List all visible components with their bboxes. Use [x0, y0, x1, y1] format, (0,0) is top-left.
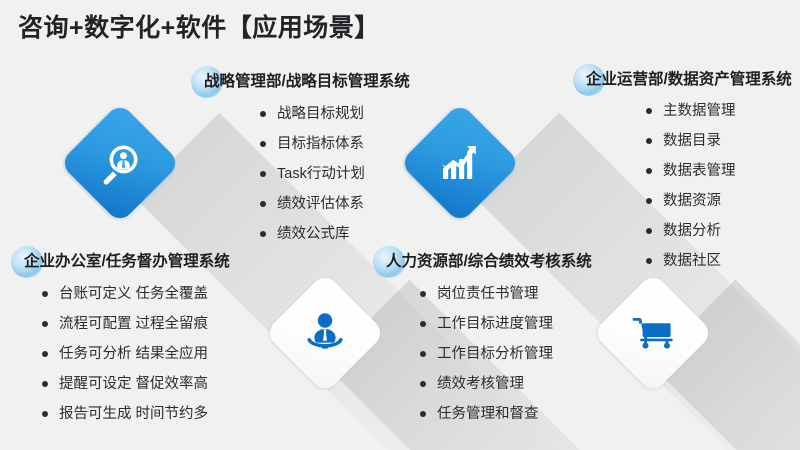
list-item[interactable]: 数据目录 [646, 132, 792, 150]
list-item[interactable]: 绩效考核管理 [420, 375, 592, 393]
growth-chart-icon [437, 140, 483, 186]
bullet-icon [260, 111, 266, 117]
magnifier-person-icon [96, 139, 144, 187]
bullet-icon [646, 198, 652, 204]
slide-canvas: 咨询+数字化+软件【应用场景】 [0, 0, 800, 450]
leader-person-icon [302, 310, 348, 356]
bullet-icon [42, 351, 48, 357]
bullet-icon [42, 291, 48, 297]
list-item[interactable]: 数据表管理 [646, 162, 792, 180]
bullet-icon [260, 201, 266, 207]
list-item[interactable]: 任务可分析 结果全应用 [42, 345, 230, 363]
bullet-icon [260, 171, 266, 177]
list-item[interactable]: 台账可定义 任务全覆盖 [42, 285, 230, 303]
list-item[interactable]: 岗位责任书管理 [420, 285, 592, 303]
bullet-icon [42, 411, 48, 417]
bullet-icon [646, 228, 652, 234]
list-item[interactable]: 目标指标体系 [260, 135, 410, 153]
bullet-icon [420, 381, 426, 387]
bullet-icon [420, 291, 426, 297]
list-item[interactable]: 提醒可设定 督促效率高 [42, 375, 230, 393]
bullet-icon [646, 138, 652, 144]
list-task-supervision: 台账可定义 任务全覆盖 流程可配置 过程全留痕 任务可分析 结果全应用 提醒可设… [42, 285, 230, 423]
block-heading-performance: 人力资源部/综合绩效考核系统 [382, 252, 592, 272]
list-item[interactable]: 绩效评估体系 [260, 195, 410, 213]
page-title: 咨询+数字化+软件【应用场景】 [18, 8, 380, 44]
list-item[interactable]: 任务管理和督查 [420, 405, 592, 423]
block-heading-data-asset: 企业运营部/数据资产管理系统 [582, 70, 792, 90]
bullet-icon [646, 168, 652, 174]
list-strategy: 战略目标规划 目标指标体系 Task行动计划 绩效评估体系 绩效公式库 [260, 105, 410, 243]
block-performance: 人力资源部/综合绩效考核系统 岗位责任书管理 工作目标进度管理 工作目标分析管理… [382, 252, 592, 435]
bullet-icon [646, 258, 652, 264]
block-heading-strategy: 战略管理部/战略目标管理系统 [200, 72, 410, 92]
bullet-icon [646, 108, 652, 114]
list-item[interactable]: 数据社区 [646, 252, 792, 270]
block-data-asset: 企业运营部/数据资产管理系统 主数据管理 数据目录 数据表管理 数据资源 数据分… [582, 70, 792, 282]
list-item[interactable]: Task行动计划 [260, 165, 410, 183]
list-item[interactable]: 数据资源 [646, 192, 792, 210]
bullet-icon [42, 321, 48, 327]
list-item[interactable]: 工作目标进度管理 [420, 315, 592, 333]
bullet-icon [420, 321, 426, 327]
icon-tile-growth-chart[interactable] [399, 102, 521, 224]
list-item[interactable]: 绩效公式库 [260, 225, 410, 243]
list-item[interactable]: 战略目标规划 [260, 105, 410, 123]
list-item[interactable]: 数据分析 [646, 222, 792, 240]
list-data-asset: 主数据管理 数据目录 数据表管理 数据资源 数据分析 数据社区 [646, 102, 792, 270]
icon-tile-leader-person[interactable] [264, 272, 386, 394]
bullet-icon [420, 411, 426, 417]
bullet-icon [420, 351, 426, 357]
shopping-cart-icon [630, 310, 676, 356]
bullet-icon [42, 381, 48, 387]
list-performance: 岗位责任书管理 工作目标进度管理 工作目标分析管理 绩效考核管理 任务管理和督查 [420, 285, 592, 423]
list-item[interactable]: 报告可生成 时间节约多 [42, 405, 230, 423]
bullet-icon [260, 141, 266, 147]
bullet-icon [260, 231, 266, 237]
icon-tile-shopping-cart[interactable] [592, 272, 714, 394]
block-heading-task-supervision: 企业办公室/任务督办管理系统 [20, 252, 230, 272]
list-item[interactable]: 流程可配置 过程全留痕 [42, 315, 230, 333]
list-item[interactable]: 主数据管理 [646, 102, 792, 120]
icon-tile-magnifier-person[interactable] [59, 102, 181, 224]
block-strategy: 战略管理部/战略目标管理系统 战略目标规划 目标指标体系 Task行动计划 绩效… [200, 72, 410, 255]
block-task-supervision: 企业办公室/任务督办管理系统 台账可定义 任务全覆盖 流程可配置 过程全留痕 任… [20, 252, 230, 435]
list-item[interactable]: 工作目标分析管理 [420, 345, 592, 363]
